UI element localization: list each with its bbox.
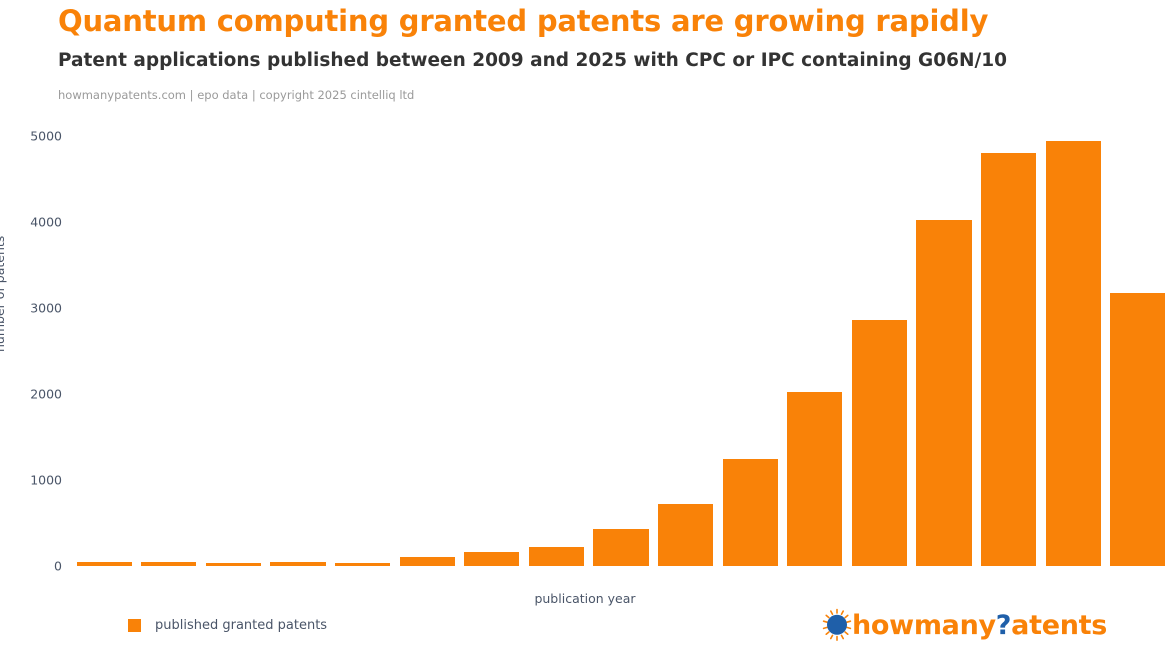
logo-text-question: ? <box>996 610 1011 641</box>
bar[interactable] <box>852 320 907 566</box>
bar[interactable] <box>270 562 325 566</box>
bar[interactable] <box>916 220 971 566</box>
y-axis-tick: 4000 <box>2 215 62 230</box>
chart-subtitle: Patent applications published between 20… <box>58 50 1007 71</box>
y-axis-tick: 0 <box>2 559 62 574</box>
plot-area: 0100020003000400050002010201220142016201… <box>72 136 1170 566</box>
y-axis-tick: 1000 <box>2 473 62 488</box>
bar[interactable] <box>981 153 1036 566</box>
legend-swatch-published-granted-patents <box>128 619 141 632</box>
legend-label-published-granted-patents: published granted patents <box>155 618 327 633</box>
logo-wordmark: howmany?atents <box>852 610 1107 641</box>
logo-text-howmany: howmany <box>852 610 996 641</box>
bar[interactable] <box>141 562 196 566</box>
y-axis-tick: 3000 <box>2 301 62 316</box>
chart-page: Quantum computing granted patents are gr… <box>0 0 1170 650</box>
bar[interactable] <box>1046 141 1101 566</box>
bar[interactable] <box>206 563 261 566</box>
bar[interactable] <box>787 392 842 566</box>
bar[interactable] <box>335 563 390 566</box>
bar[interactable] <box>400 557 455 566</box>
y-axis-tick: 5000 <box>2 129 62 144</box>
bar[interactable] <box>77 562 132 566</box>
chart-credit-line: howmanypatents.com | epo data | copyrigh… <box>58 88 414 102</box>
circle-sunburst-icon <box>820 608 854 642</box>
bar[interactable] <box>593 529 648 566</box>
legend: published granted patents <box>128 618 327 633</box>
y-axis-label: number of patents <box>0 236 7 352</box>
howmanypatents-logo[interactable]: howmany?atents <box>820 604 1107 646</box>
bar[interactable] <box>1110 293 1165 566</box>
bar[interactable] <box>464 552 519 566</box>
bar[interactable] <box>529 547 584 566</box>
bar[interactable] <box>658 504 713 566</box>
y-axis-tick: 2000 <box>2 387 62 402</box>
bar[interactable] <box>723 459 778 566</box>
chart-title: Quantum computing granted patents are gr… <box>58 4 988 38</box>
logo-text-atents: atents <box>1011 610 1107 641</box>
